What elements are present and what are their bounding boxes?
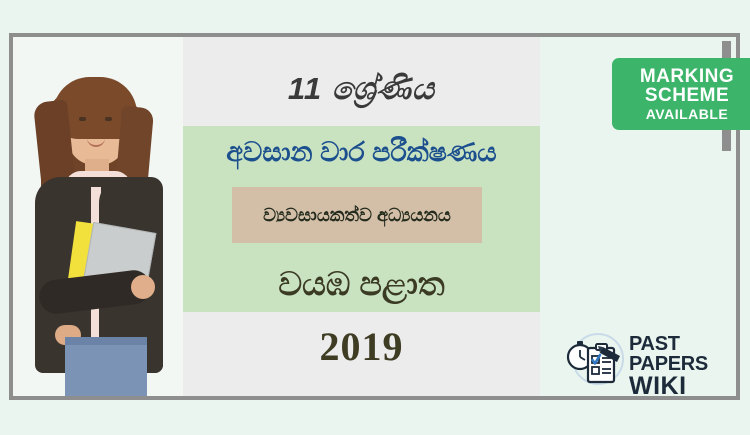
- eye-right: [105, 117, 112, 121]
- past-paper-cover: 11 ශ්‍රේණිය අවසාන වාර පරීක්ෂණය ව්‍යවසායක…: [0, 0, 750, 435]
- logo-wordmark: PAST PAPERS WIKI: [629, 334, 733, 399]
- logo-text-top: PAST PAPERS: [629, 334, 733, 374]
- jeans-waistband: [65, 337, 147, 345]
- grade-label: 11 ශ්‍රේණිය: [183, 58, 540, 120]
- year-label: 2019: [183, 318, 540, 374]
- subject-label: ව්‍යවසායකත්ව අධ්‍යයනය: [263, 205, 451, 226]
- subject-box: ව්‍යවසායකත්ව අධ්‍යයනය: [232, 187, 482, 243]
- jeans: [65, 337, 147, 396]
- exam-title: අවසාන වාර පරීක්ෂණය: [183, 130, 540, 176]
- badge-line-1: MARKING: [640, 67, 734, 86]
- student-photo: [13, 37, 183, 396]
- marking-scheme-badge[interactable]: MARKING SCHEME AVAILABLE: [612, 58, 750, 130]
- eye-left: [79, 117, 86, 121]
- province-label: වයඹ පළාත: [183, 256, 540, 312]
- past-papers-wiki-logo[interactable]: PAST PAPERS WIKI: [565, 328, 733, 390]
- logo-text-bottom: WIKI: [629, 374, 733, 399]
- clipboard-stopwatch-pen-icon: [565, 330, 627, 388]
- badge-line-2: SCHEME: [645, 86, 729, 105]
- badge-line-3: AVAILABLE: [646, 107, 729, 121]
- hand-right: [131, 275, 155, 299]
